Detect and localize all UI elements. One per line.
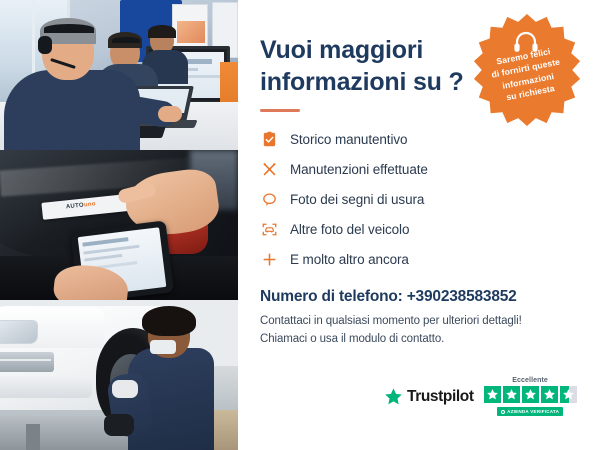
mechanic-face-mask xyxy=(150,340,176,354)
agent-1-headset-cup xyxy=(38,36,52,54)
wall-poster xyxy=(172,4,208,48)
agent-3-hair xyxy=(148,25,176,38)
agent-1-hand xyxy=(158,106,182,122)
agent-2-headset xyxy=(112,37,140,43)
mechanic-glove-lower xyxy=(104,414,134,436)
page-title: Vuoi maggiori informazioni su ? xyxy=(260,34,475,98)
list-item[interactable]: E molto altro ancora xyxy=(260,246,580,272)
contact-instructions-line-2: Chiamaci o usa il modulo di contatto. xyxy=(260,331,580,349)
clipboard-check-icon xyxy=(260,130,278,148)
strip-logo: AUTOuno xyxy=(66,201,96,210)
star-filled xyxy=(484,386,501,403)
star-filled xyxy=(503,386,520,403)
list-item-label: Foto dei segni di usura xyxy=(290,192,424,207)
title-divider xyxy=(260,109,300,112)
trustpilot-rating[interactable]: Trustpilot Eccellente xyxy=(384,377,577,416)
car-scan-icon xyxy=(260,220,278,238)
vehicle-inspection-tablet-photo: AUTOuno xyxy=(0,150,238,300)
trustpilot-logo[interactable]: Trustpilot xyxy=(384,387,474,406)
mechanic-glove-upper xyxy=(112,380,138,398)
car-front-bumper xyxy=(0,376,92,398)
list-item-label: E molto altro ancora xyxy=(290,252,409,267)
star-half xyxy=(560,386,577,403)
availability-badge: Saremo felici di fornirti queste informa… xyxy=(468,10,586,130)
strip-logo-part1: AUTO xyxy=(66,203,85,211)
star-filled xyxy=(522,386,539,403)
search-bubble-icon xyxy=(260,190,278,208)
mechanic-hair xyxy=(142,306,196,336)
photo-strip: AUTOuno xyxy=(0,0,238,450)
verified-label: AZIENDA VERIFICATA xyxy=(507,409,559,414)
plus-icon xyxy=(260,250,278,268)
agent-1-headset-band xyxy=(44,24,94,33)
car-headlight xyxy=(0,320,38,344)
call-center-agents-photo xyxy=(0,0,238,150)
contact-instructions-line-1: Contattaci in qualsiasi momento per ulte… xyxy=(260,313,580,331)
car-grille xyxy=(0,352,54,372)
phone-number[interactable]: +390238583852 xyxy=(407,288,517,305)
phone-label: Numero di telefono: xyxy=(260,288,403,305)
list-item-label: Manutenzioni effettuate xyxy=(290,162,428,177)
list-item[interactable]: Manutenzioni effettuate xyxy=(260,156,580,182)
trustpilot-score: Eccellente xyxy=(484,377,577,416)
wrench-cross-icon xyxy=(260,160,278,178)
list-item-label: Altre foto del veicolo xyxy=(290,222,409,237)
trustpilot-wordmark: Trustpilot xyxy=(407,388,474,406)
star-rating xyxy=(484,386,577,403)
list-item-label: Storico manutentivo xyxy=(290,132,407,147)
list-item[interactable]: Foto dei segni di usura xyxy=(260,186,580,212)
strip-logo-part2: uno xyxy=(84,201,96,208)
trustpilot-star-icon xyxy=(384,387,403,406)
list-item[interactable]: Altre foto del veicolo xyxy=(260,216,580,242)
rating-label: Eccellente xyxy=(512,377,548,384)
verified-business-badge: AZIENDA VERIFICATA xyxy=(497,407,563,416)
info-request-panel: AUTOuno xyxy=(0,0,600,450)
content-panel: Vuoi maggiori informazioni su ? Storico … xyxy=(238,0,600,450)
contact-instructions: Contattaci in qualsiasi momento per ulte… xyxy=(260,313,580,349)
star-filled xyxy=(541,386,558,403)
check-circle-icon xyxy=(501,410,505,414)
phone-number-line[interactable]: Numero di telefono: +390238583852 xyxy=(260,288,580,306)
feature-list: Storico manutentivo Manutenzioni effettu… xyxy=(260,126,580,272)
mechanic-wheel-inspection-photo xyxy=(0,300,238,450)
